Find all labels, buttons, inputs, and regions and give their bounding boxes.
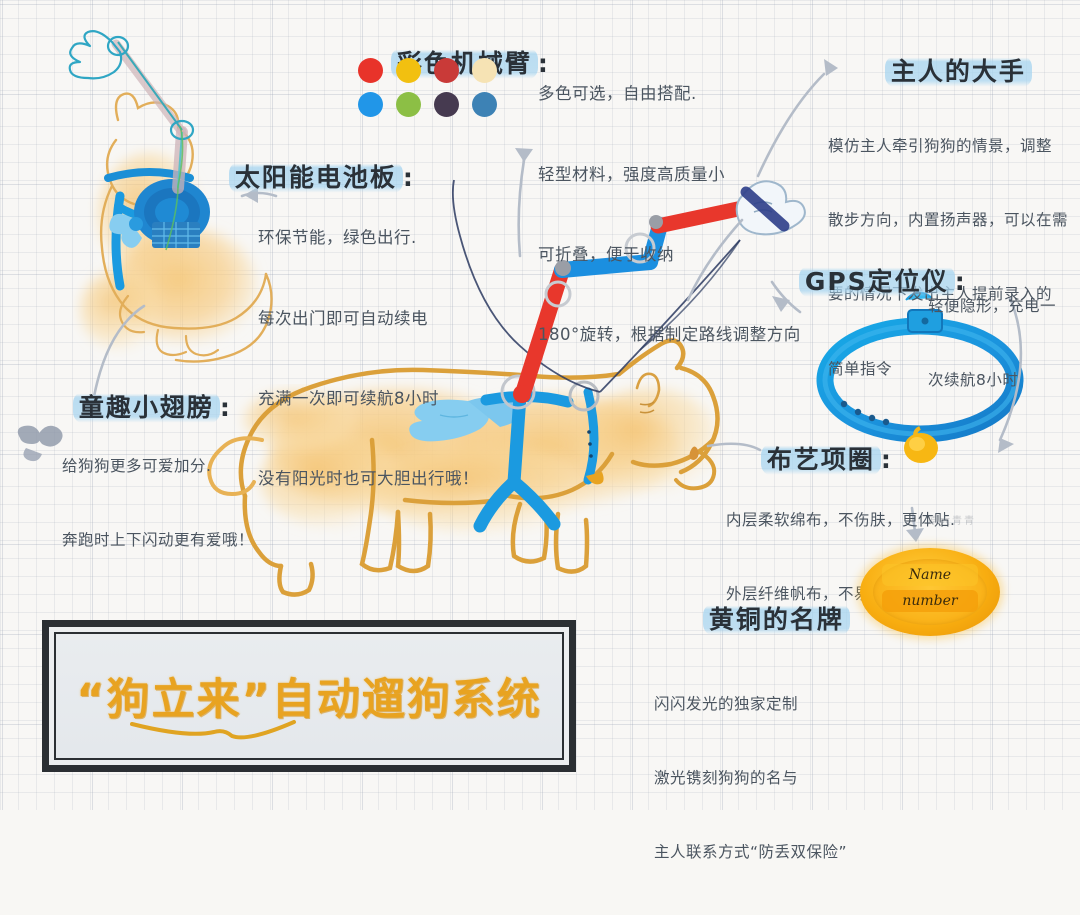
section-body-gps-tracker: 轻便隐形，充电一 次续航8小时: [928, 244, 1056, 442]
body-line: 环保节能，绿色出行.: [258, 225, 479, 252]
body-line: 模仿主人牵引狗狗的情景，调整: [828, 134, 1068, 159]
swatch-dark-red[interactable]: [434, 58, 459, 83]
swatch-yellow[interactable]: [396, 58, 421, 83]
body-line: 主人联系方式“防丢双保险”: [654, 840, 847, 865]
brass-name-tag-illustration: Name number: [860, 548, 1000, 636]
section-body-solar-panel: 环保节能，绿色出行. 每次出门即可自动续电 充满一次即可续航8小时 没有阳光时也…: [258, 172, 479, 546]
section-body-wings: 给狗狗更多可爱加分. 奔跑时上下闪动更有爱哦！: [62, 404, 254, 602]
body-line: 没有阳光时也可大胆出行哦！: [258, 466, 479, 493]
title-underline-flourish: [128, 716, 298, 742]
body-line: 轻型材料，强度高质量小: [538, 162, 801, 189]
body-line: 奔跑时上下闪动更有爱哦！: [62, 528, 254, 553]
body-line: 充满一次即可续航8小时: [258, 386, 479, 413]
body-line: 每次出门即可自动续电: [258, 306, 479, 333]
body-line: 次续航8小时: [928, 368, 1056, 393]
heading-text: 黄铜的名牌: [703, 603, 850, 636]
section-body-brass-nametag: 闪闪发光的独家定制 激光镌刻狗狗的名与 主人联系方式“防丢双保险”: [654, 642, 847, 915]
tag-number-field: number: [882, 590, 978, 612]
notebook-page: 彩色机械臂: 多色可选，自由搭配. 轻型材料，强度高质量小 可折叠，便于收纳 1…: [0, 0, 1080, 810]
body-line: 激光镌刻狗狗的名与: [654, 766, 847, 791]
body-line: 给狗狗更多可爱加分.: [62, 454, 254, 479]
title-banner-inner: “狗立来”自动遛狗系统: [54, 632, 564, 760]
body-line: 闪闪发光的独家定制: [654, 692, 847, 717]
swatch-red[interactable]: [358, 58, 383, 83]
tag-name-field: Name: [882, 564, 978, 586]
swatch-green[interactable]: [396, 92, 421, 117]
body-line: 散步方向，内置扬声器，可以在需: [828, 208, 1068, 233]
title-banner: “狗立来”自动遛狗系统: [42, 620, 576, 772]
swatch-dark-purple[interactable]: [434, 92, 459, 117]
color-palette[interactable]: [358, 58, 510, 126]
swatch-steel-blue[interactable]: [472, 92, 497, 117]
body-line: 多色可选，自由搭配.: [538, 81, 801, 108]
swatch-blue[interactable]: [358, 92, 383, 117]
watermark: 原大青青: [928, 512, 976, 527]
heading-text: 主人的大手: [885, 55, 1032, 88]
swatch-cream[interactable]: [472, 58, 497, 83]
body-line: 180°旋转，根据制定路线调整方向: [538, 322, 801, 349]
section-body-robotic-arm: 多色可选，自由搭配. 轻型材料，强度高质量小 可折叠，便于收纳 180°旋转，根…: [538, 28, 801, 402]
body-line: 轻便隐形，充电一: [928, 294, 1056, 319]
